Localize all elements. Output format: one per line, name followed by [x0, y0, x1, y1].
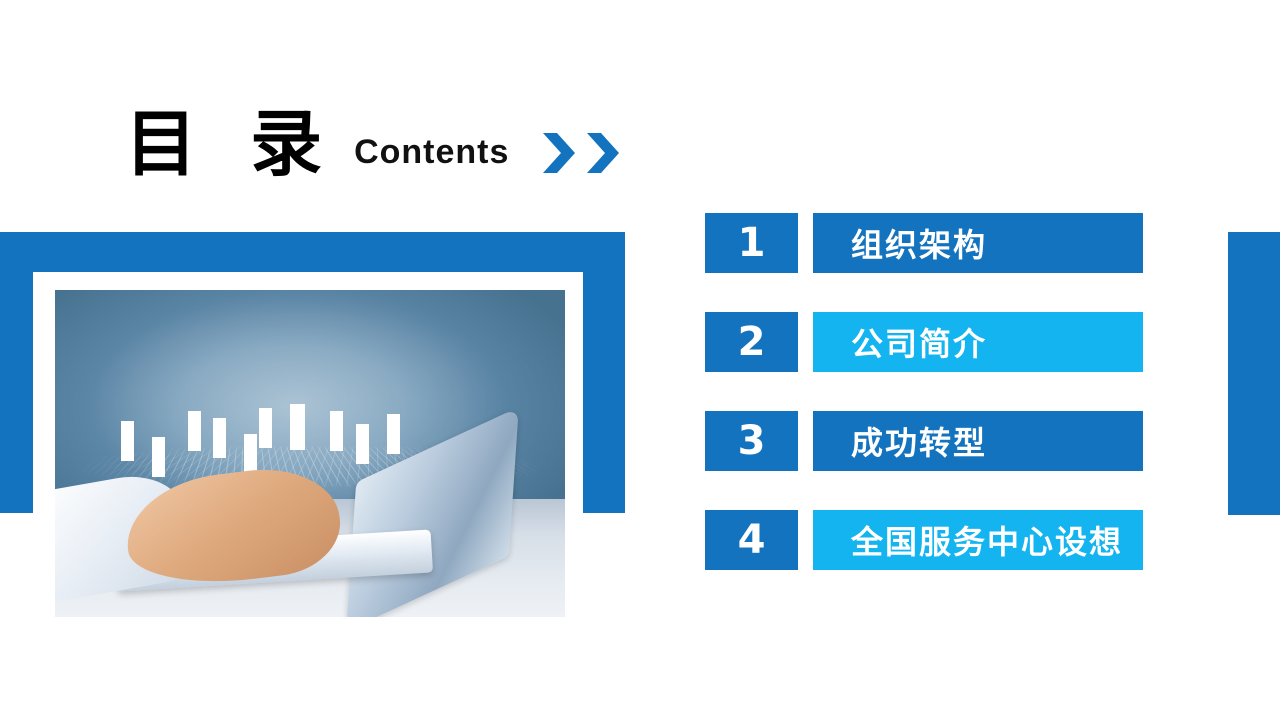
spacer — [798, 510, 813, 570]
agenda-item-number: 3 — [705, 411, 798, 471]
chevron-right-icon-1 — [541, 131, 578, 175]
agenda-menu: 1 组织架构 2 公司简介 3 成功转型 4 全国服务中心设想 — [705, 213, 1143, 570]
agenda-item-1[interactable]: 1 组织架构 — [705, 213, 1143, 273]
agenda-item-number: 1 — [705, 213, 798, 273]
silhouette-person — [330, 411, 343, 451]
agenda-item-4[interactable]: 4 全国服务中心设想 — [705, 510, 1143, 570]
page-title-en: Contents — [354, 133, 509, 172]
silhouette-person — [188, 411, 201, 451]
double-chevron-right-icon — [541, 131, 622, 175]
agenda-item-label[interactable]: 公司简介 — [813, 312, 1143, 372]
agenda-item-label[interactable]: 全国服务中心设想 — [813, 510, 1143, 570]
agenda-item-number: 2 — [705, 312, 798, 372]
right-accent-bar — [1228, 232, 1280, 515]
chevron-right-icon-2 — [585, 131, 622, 175]
slide-title-block: 目 录 Contents — [125, 108, 622, 180]
silhouette-person — [244, 434, 257, 474]
silhouette-person — [121, 421, 134, 461]
silhouette-person — [259, 408, 272, 448]
agenda-item-label[interactable]: 成功转型 — [813, 411, 1143, 471]
silhouette-person — [152, 437, 165, 477]
spacer — [798, 213, 813, 273]
silhouette-person — [290, 404, 305, 450]
agenda-item-3[interactable]: 3 成功转型 — [705, 411, 1143, 471]
silhouette-person — [387, 414, 400, 454]
agenda-item-2[interactable]: 2 公司简介 — [705, 312, 1143, 372]
page-title-cn: 目 录 — [125, 108, 336, 180]
silhouette-person — [213, 418, 226, 458]
spacer — [798, 411, 813, 471]
silhouette-person — [356, 424, 369, 464]
spacer — [798, 312, 813, 372]
slide-photo — [55, 290, 565, 617]
presentation-slide: 目 录 Contents — [0, 0, 1280, 720]
agenda-item-number: 4 — [705, 510, 798, 570]
agenda-item-label[interactable]: 组织架构 — [813, 213, 1143, 273]
